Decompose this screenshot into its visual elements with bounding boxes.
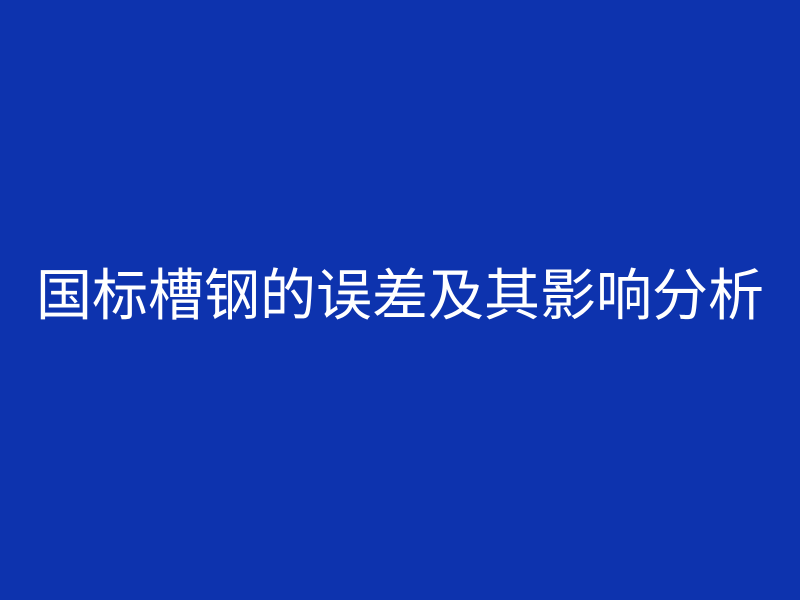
- page-title: 国标槽钢的误差及其影响分析: [36, 268, 764, 327]
- title-card-slide: 国标槽钢的误差及其影响分析: [0, 0, 800, 600]
- headline-container: 国标槽钢的误差及其影响分析: [0, 268, 800, 327]
